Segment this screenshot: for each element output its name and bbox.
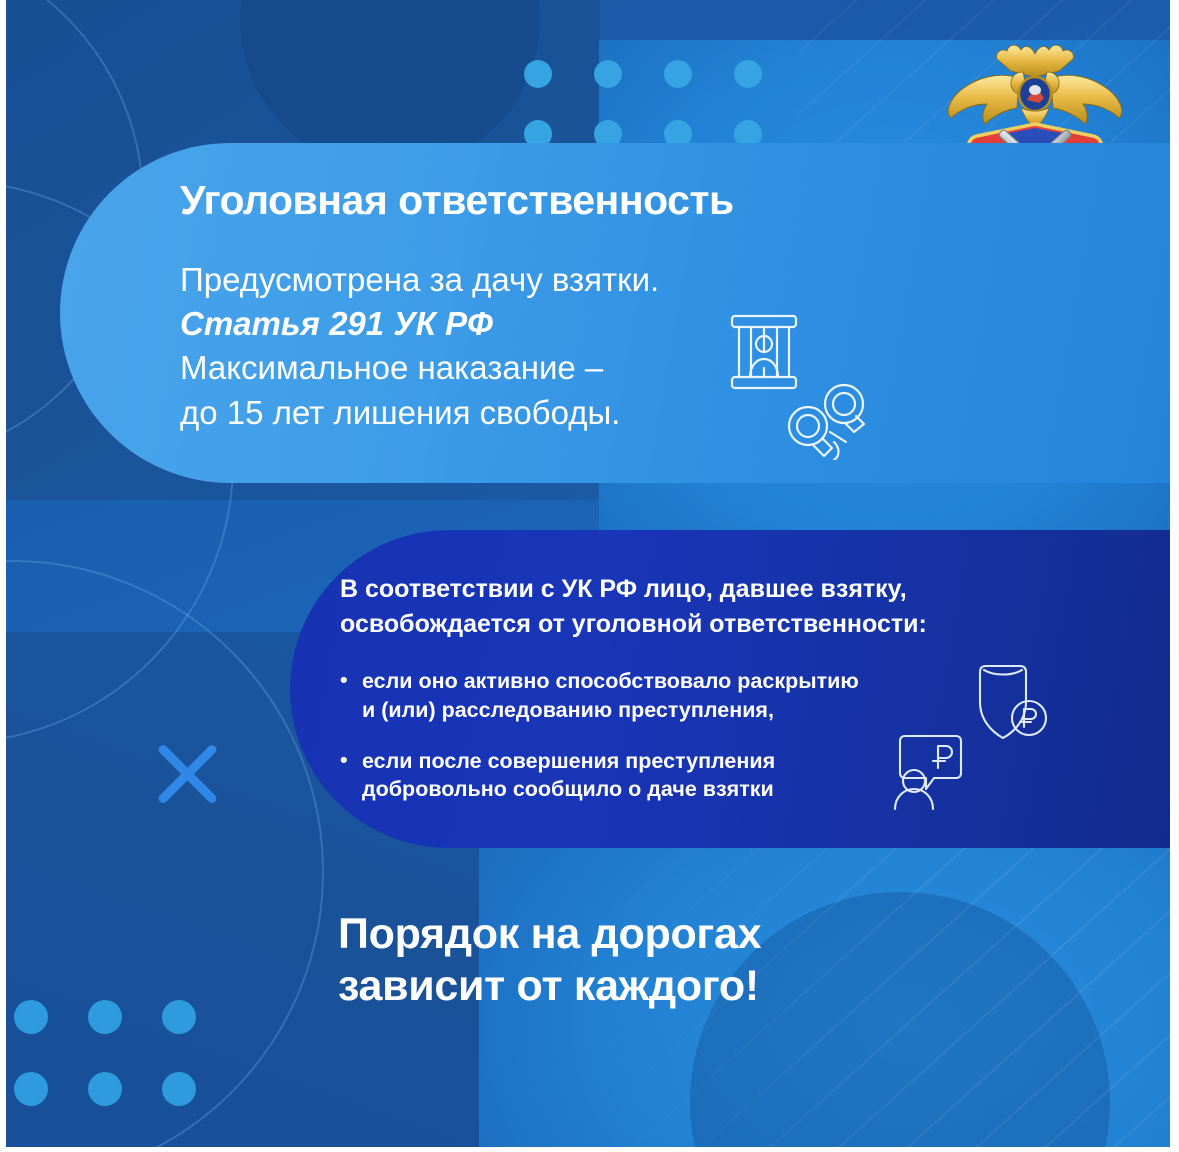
decor-x-mark-icon [148,735,226,813]
decor-dot [14,1000,48,1034]
decor-dot-grid-bottom [14,1000,190,1106]
decor-dot [162,1072,196,1106]
decor-dot [664,60,692,88]
slogan: Порядок на дорогах зависит от каждого! [338,908,761,1013]
page-edge-left [0,0,6,1152]
poster-root: СЛУЖИМ РОССИИ СЛУЖИМ ЗАКОНУ Уголовная от… [0,0,1179,1152]
decor-dot [524,60,552,88]
exemption-bullet-1-line-2: и (или) расследованию преступления, [362,698,774,722]
person-ruble-bubble-icon [890,733,972,811]
decor-dot [88,1072,122,1106]
page-edge-bottom [0,1147,1179,1152]
slogan-line-1: Порядок на дорогах [338,908,761,960]
exemption-bullet-item: если после совершения преступления добро… [340,747,1119,805]
decor-dot [88,1000,122,1034]
exemption-bullet-2-line-1: если после совершения преступления [362,749,775,773]
exemption-lead-line-2: освобождается от уголовной ответственнос… [340,610,927,638]
shield-ruble-icon [968,658,1050,744]
criminal-liability-body: Предусмотрена за дачу взятки. Статья 291… [180,258,1119,435]
handcuffs-icon [786,382,868,460]
decor-dot [734,60,762,88]
page-edge-right [1170,0,1179,1152]
decor-dot [162,1000,196,1034]
criminal-liability-heading: Уголовная ответственность [180,177,1119,224]
decor-dot [14,1072,48,1106]
exemption-lead: В соответствии с УК РФ лицо, давшее взят… [340,572,1119,641]
criminal-liability-card: Уголовная ответственность Предусмотрена … [60,143,1179,483]
double-headed-eagle [948,45,1122,128]
criminal-liability-line-1: Предусмотрена за дачу взятки. [180,258,1119,302]
jail-cell-icon [728,312,800,392]
criminal-liability-line-4: до 15 лет лишения свободы. [180,391,1119,435]
decor-dot-grid-top [524,60,762,148]
slogan-line-2: зависит от каждого! [338,960,761,1012]
decor-dot [594,60,622,88]
exemption-lead-line-1: В соответствии с УК РФ лицо, давшее взят… [340,575,907,603]
criminal-liability-article: Статья 291 УК РФ [180,302,1119,346]
criminal-liability-line-3: Максимальное наказание – [180,346,1119,390]
exemption-bullet-2-line-2: добровольно сообщило о даче взятки [362,777,774,801]
exemption-bullet-1-line-1: если оно активно способствовало раскрыти… [362,669,859,693]
